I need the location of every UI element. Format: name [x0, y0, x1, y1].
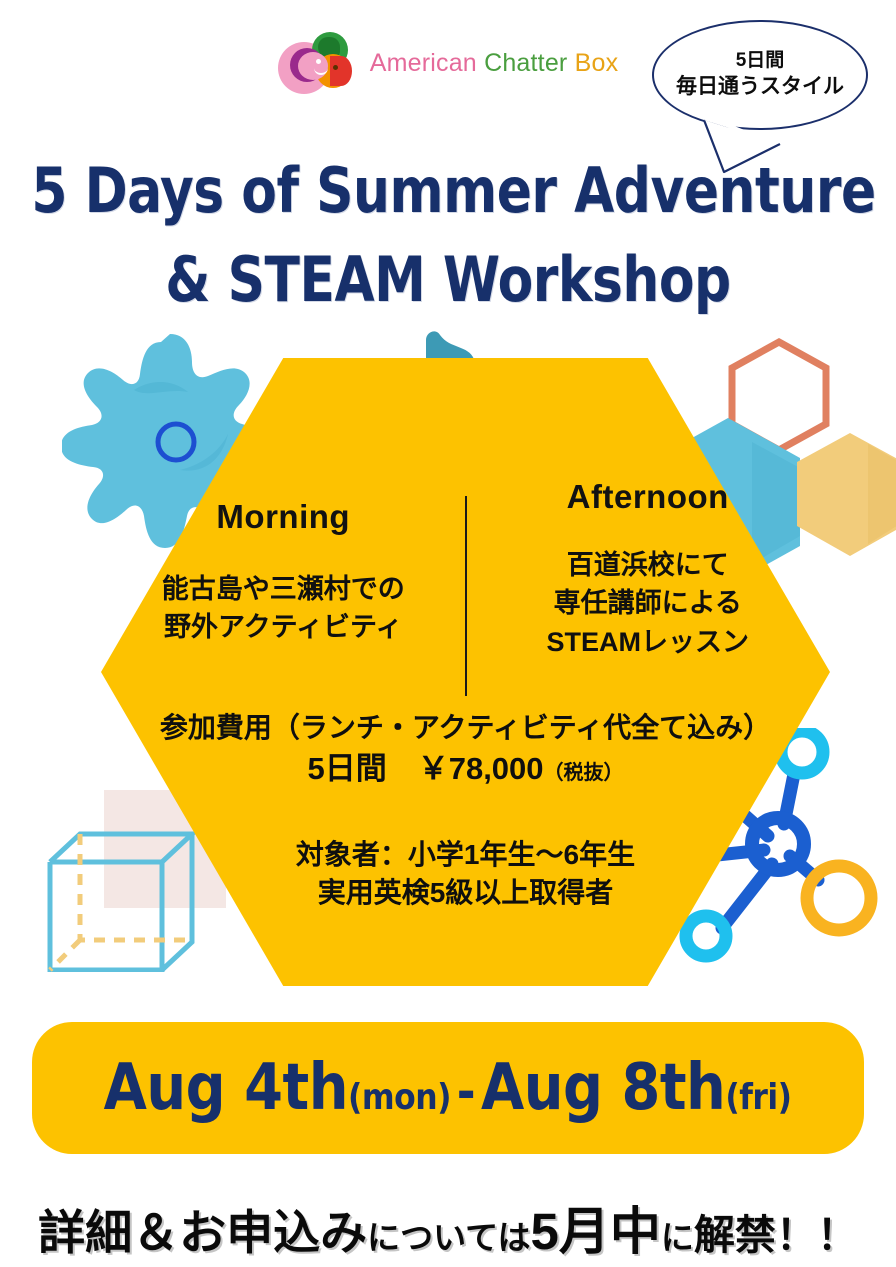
price-amount: 5日間 ￥78,000 [307, 751, 543, 786]
session-divider [465, 496, 467, 696]
morning-line-1: 能古島や三瀬村での [162, 570, 405, 608]
afternoon-column: Afternoon 百道浜校にて 専任講師による STEAMレッスン [466, 368, 831, 678]
date-dash: - [451, 1062, 481, 1122]
footer-seg-4: に [661, 1219, 694, 1256]
morning-heading: Morning [216, 498, 350, 536]
bubble-line-2: 毎日通うスタイル [676, 74, 844, 101]
brand-name: American Chatter Box [370, 49, 619, 78]
footer-announcement: 詳細＆お申込みについては5月中に解禁！！ [0, 1190, 896, 1264]
page-title-line-1: 5 Days of Summer Adventure [31, 146, 864, 235]
poster-root: American Chatter Box 5日間 毎日通うスタイル 5 Days… [0, 0, 896, 1267]
afternoon-line-2: 専任講師による [554, 584, 742, 622]
footer-seg-5: 解禁！！ [694, 1212, 858, 1258]
footer-seg-1: 詳細＆お申込み [38, 1206, 367, 1259]
american-chatter-box-logo-icon [278, 32, 356, 94]
afternoon-line-3: STEAMレッスン [547, 623, 750, 661]
page-title-line-2: & STEAM Workshop [31, 235, 864, 324]
morning-column: Morning 能古島や三瀬村での 野外アクティビティ [101, 368, 466, 678]
date-end-day: (fri) [726, 1077, 792, 1118]
hexagon-content: Morning 能古島や三瀬村での 野外アクティビティ Afternoon 百道… [101, 358, 830, 986]
date-banner: Aug 4th(mon)-Aug 8th(fri) [32, 1022, 864, 1154]
footer-seg-3: 5月中 [530, 1203, 660, 1260]
bubble-line-1: 5日間 [736, 49, 785, 73]
date-end: Aug 8th [481, 1051, 725, 1125]
target-line-1: 対象者：小学1年生〜6年生 [101, 836, 830, 874]
date-range: Aug 4th(mon)-Aug 8th(fri) [104, 1051, 792, 1125]
footer-seg-2: については [367, 1219, 530, 1256]
afternoon-line-1: 百道浜校にて [567, 546, 729, 584]
price-block: 参加費用（ランチ・アクティビティ代全て込み） 5日間 ￥78,000（税抜） [101, 710, 830, 790]
price-tax-note: （税抜） [544, 762, 624, 784]
sessions-split: Morning 能古島や三瀬村での 野外アクティビティ Afternoon 百道… [101, 368, 830, 678]
page-title: 5 Days of Summer Adventure & STEAM Works… [31, 146, 864, 325]
brand-name-part2: Chatter [484, 49, 575, 77]
brand-name-part1: American [370, 49, 484, 77]
price-description: 参加費用（ランチ・アクティビティ代全て込み） [101, 710, 830, 746]
afternoon-heading: Afternoon [567, 478, 729, 516]
price-amount-row: 5日間 ￥78,000（税抜） [101, 748, 830, 790]
target-line-2: 実用英検5級以上取得者 [101, 874, 830, 912]
brand-name-part3: Box [575, 49, 619, 77]
date-start: Aug 4th [104, 1051, 348, 1125]
morning-line-2: 野外アクティビティ [164, 608, 402, 646]
target-block: 対象者：小学1年生〜6年生 実用英検5級以上取得者 [101, 836, 830, 912]
date-start-day: (mon) [348, 1077, 451, 1118]
